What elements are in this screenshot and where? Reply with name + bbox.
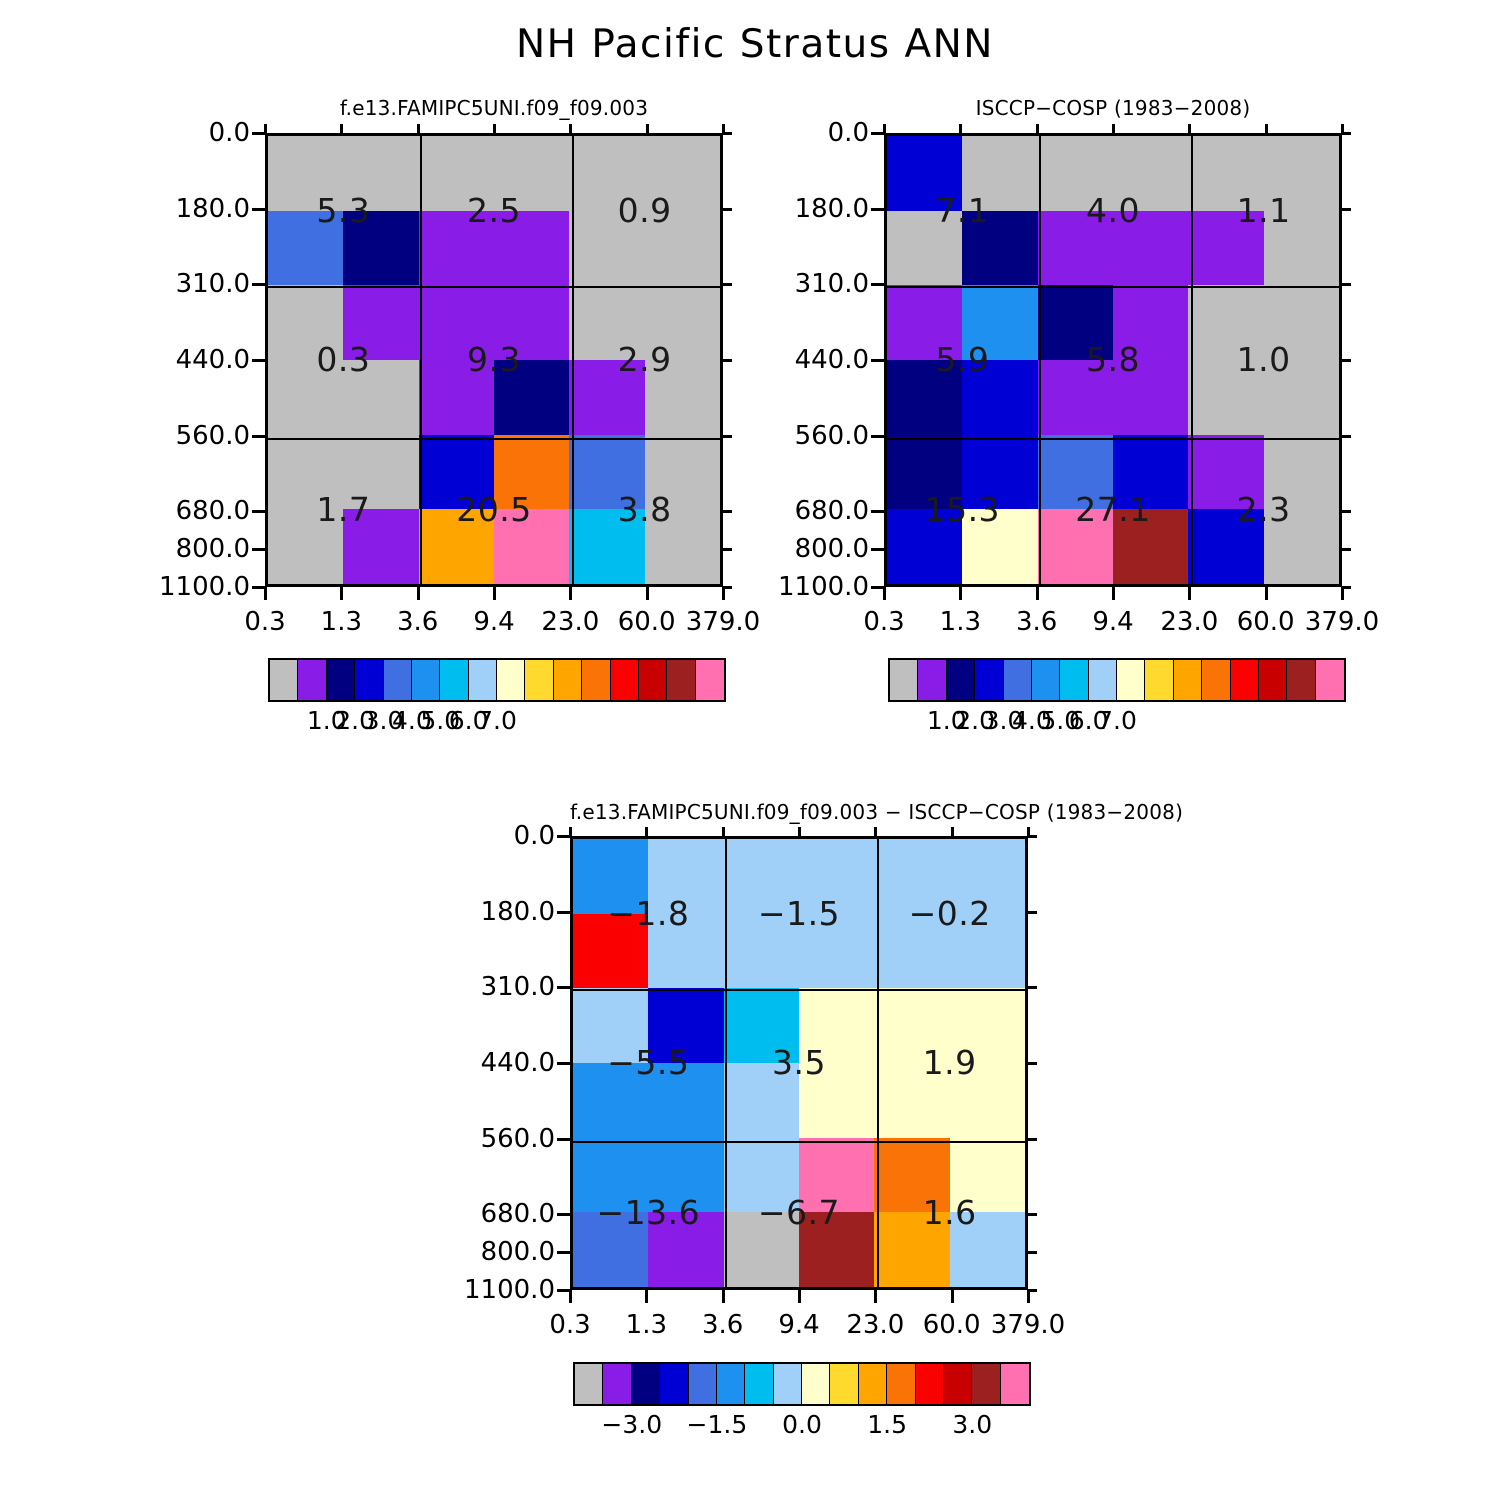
group-separator-horizontal <box>573 1141 1025 1143</box>
y-axis-label: 310.0 <box>110 269 250 299</box>
colorbar-swatch <box>603 1364 631 1404</box>
colorbar-swatch <box>916 1364 944 1404</box>
colorbar-swatch <box>890 660 918 700</box>
colorbar-swatch <box>1060 660 1088 700</box>
y-axis-label: 0.0 <box>110 118 250 148</box>
y-axis-label: 800.0 <box>415 1237 555 1267</box>
heatmap-cell <box>799 1063 874 1138</box>
x-axis-tick-top <box>1036 124 1039 133</box>
colorbar-swatch <box>632 1364 660 1404</box>
heatmap-cell <box>887 360 962 435</box>
y-axis-label: 1100.0 <box>110 572 250 602</box>
heatmap-cell <box>887 509 962 584</box>
heatmap-cell <box>1264 435 1339 510</box>
y-axis-tick <box>252 548 265 551</box>
y-axis-tick <box>557 1251 570 1254</box>
group-separator-horizontal <box>887 286 1339 288</box>
x-axis-label: 0.3 <box>863 607 904 637</box>
x-axis-tick-top <box>722 827 725 836</box>
x-axis-label: 379.0 <box>1305 607 1379 637</box>
plot-area-model: 5.32.50.90.39.32.91.720.53.8 <box>265 133 723 587</box>
group-separator-vertical <box>1039 136 1041 584</box>
x-axis-tick-top <box>722 124 725 133</box>
x-axis-tick <box>959 587 962 600</box>
heatmap-cell <box>950 988 1025 1063</box>
y-axis-tick <box>252 283 265 286</box>
heatmap-cell <box>1038 360 1113 435</box>
x-axis-tick <box>569 1290 572 1303</box>
y-axis-tick <box>557 986 570 989</box>
heatmap-cell <box>1113 285 1188 360</box>
colorbar-swatch <box>689 1364 717 1404</box>
y-axis-tick <box>252 510 265 513</box>
heatmap-cell <box>573 1138 648 1213</box>
y-axis-tick <box>557 1138 570 1141</box>
heatmap-cell <box>874 839 949 914</box>
x-axis-label: 9.4 <box>778 1310 819 1340</box>
y-axis-tick-right <box>1342 548 1351 551</box>
heatmap-cell <box>887 285 962 360</box>
cell-grid <box>268 136 720 584</box>
heatmap-cell <box>1188 360 1263 435</box>
colorbar-swatch <box>972 1364 1000 1404</box>
y-axis-tick <box>871 548 884 551</box>
heatmap-cell <box>645 285 720 360</box>
colorbar-swatch <box>802 1364 830 1404</box>
x-axis-label: 379.0 <box>686 607 760 637</box>
group-separator-vertical <box>877 839 879 1287</box>
x-axis-label: 1.3 <box>321 607 362 637</box>
colorbar-swatch <box>1117 660 1145 700</box>
x-axis-tick <box>1112 587 1115 600</box>
colorbar-swatch <box>327 660 355 700</box>
x-axis-label: 3.6 <box>1016 607 1057 637</box>
y-axis-tick <box>557 911 570 914</box>
colorbar-swatch <box>830 1364 858 1404</box>
heatmap-cell <box>887 435 962 510</box>
colorbar-swatch <box>947 660 975 700</box>
x-axis-tick <box>569 587 572 600</box>
y-axis-tick-right <box>1028 1251 1037 1254</box>
heatmap-cell <box>419 509 494 584</box>
colorbar-tick-label: −3.0 <box>601 1410 662 1439</box>
heatmap-cell <box>343 435 418 510</box>
heatmap-cell <box>343 285 418 360</box>
heatmap-cell <box>724 839 799 914</box>
heatmap-cell <box>648 914 723 989</box>
x-axis-tick-top <box>646 124 649 133</box>
heatmap-cell <box>1264 509 1339 584</box>
figure-canvas: NH Pacific Stratus ANN f.e13.FAMIPC5UNI.… <box>0 0 1510 1510</box>
heatmap-cell <box>569 211 644 286</box>
heatmap-cell <box>494 435 569 510</box>
plot-area-observations: 7.14.01.15.95.81.015.327.12.3 <box>884 133 1342 587</box>
x-axis-tick-top <box>493 124 496 133</box>
heatmap-cell <box>1264 136 1339 211</box>
colorbar-swatch <box>384 660 412 700</box>
heatmap-cell <box>573 1063 648 1138</box>
y-axis-tick <box>871 510 884 513</box>
y-axis-tick-right <box>1028 911 1037 914</box>
group-separator-horizontal <box>268 286 720 288</box>
heatmap-cell <box>1264 285 1339 360</box>
y-axis-label: 310.0 <box>415 972 555 1002</box>
colorbar-swatch <box>717 1364 745 1404</box>
colorbar-swatch <box>887 1364 915 1404</box>
x-axis-label: 60.0 <box>923 1310 981 1340</box>
colorbar-tick-label: 7.0 <box>477 706 517 735</box>
x-axis-tick-top <box>1341 124 1344 133</box>
heatmap-cell <box>268 211 343 286</box>
colorbar-swatch <box>1001 1364 1029 1404</box>
colorbar-tick-label: 1.5 <box>867 1410 907 1439</box>
y-axis-tick-right <box>1028 1138 1037 1141</box>
x-axis-tick <box>1265 587 1268 600</box>
y-axis-label: 180.0 <box>729 194 869 224</box>
colorbar-swatch <box>469 660 497 700</box>
heatmap-cell <box>268 360 343 435</box>
heatmap-cell <box>569 360 644 435</box>
heatmap-cell <box>874 1063 949 1138</box>
x-axis-tick-top <box>798 827 801 836</box>
colorbar-swatch <box>1287 660 1315 700</box>
group-separator-horizontal <box>268 438 720 440</box>
heatmap-cell <box>950 1212 1025 1287</box>
x-axis-tick-top <box>569 124 572 133</box>
x-axis-tick-top <box>1112 124 1115 133</box>
heatmap-cell <box>1264 360 1339 435</box>
y-axis-label: 560.0 <box>729 421 869 451</box>
x-axis-tick-top <box>883 124 886 133</box>
group-separator-vertical <box>1191 136 1193 584</box>
heatmap-cell <box>1188 211 1263 286</box>
heatmap-cell <box>1188 435 1263 510</box>
heatmap-cell <box>268 136 343 211</box>
plot-area-difference: −1.8−1.5−0.2−5.53.51.9−13.6−6.71.6 <box>570 836 1028 1290</box>
heatmap-cell <box>799 839 874 914</box>
heatmap-cell <box>343 211 418 286</box>
heatmap-cell <box>573 914 648 989</box>
x-axis-tick <box>417 587 420 600</box>
colorbar-swatch <box>1032 660 1060 700</box>
colorbar-swatch <box>1004 660 1032 700</box>
y-axis-tick <box>871 435 884 438</box>
heatmap-cell <box>494 360 569 435</box>
colorbar-swatch <box>525 660 553 700</box>
heatmap-cell <box>569 136 644 211</box>
heatmap-cell <box>268 435 343 510</box>
colorbar-model: 1.02.03.04.05.06.07.0 <box>268 658 726 738</box>
x-axis-tick-top <box>417 124 420 133</box>
y-axis-label: 560.0 <box>110 421 250 451</box>
x-axis-tick <box>1341 587 1344 600</box>
colorbar-swatch <box>918 660 946 700</box>
y-axis-tick-right <box>1028 1213 1037 1216</box>
heatmap-cell <box>1113 211 1188 286</box>
heatmap-cell <box>648 988 723 1063</box>
colorbar-swatch <box>1174 660 1202 700</box>
x-axis-tick <box>645 1290 648 1303</box>
heatmap-cell <box>799 988 874 1063</box>
heatmap-cell <box>419 435 494 510</box>
heatmap-cell <box>648 1138 723 1213</box>
y-axis-label: 180.0 <box>110 194 250 224</box>
colorbar-swatch <box>745 1364 773 1404</box>
colorbar-tick-label: −1.5 <box>687 1410 748 1439</box>
heatmap-cell <box>950 839 1025 914</box>
colorbar-swatch <box>412 660 440 700</box>
heatmap-cell <box>799 1212 874 1287</box>
x-axis-tick-top <box>1188 124 1191 133</box>
heatmap-cell <box>950 1138 1025 1213</box>
heatmap-cell <box>645 435 720 510</box>
colorbar-swatch <box>639 660 667 700</box>
heatmap-cell <box>1038 285 1113 360</box>
colorbar-swatch <box>1259 660 1287 700</box>
colorbar-tick-label: 3.0 <box>952 1410 992 1439</box>
y-axis-tick-right <box>1342 359 1351 362</box>
heatmap-cell <box>724 914 799 989</box>
x-axis-tick-top <box>340 124 343 133</box>
y-axis-tick <box>557 1062 570 1065</box>
heatmap-cell <box>874 1138 949 1213</box>
heatmap-cell <box>1188 136 1263 211</box>
heatmap-cell <box>494 509 569 584</box>
colorbar-swatch <box>611 660 639 700</box>
x-axis-label: 60.0 <box>618 607 676 637</box>
heatmap-cell <box>962 211 1037 286</box>
y-axis-label: 440.0 <box>110 345 250 375</box>
panel-title-model: f.e13.FAMIPC5UNI.f09_f09.003 <box>265 96 723 120</box>
x-axis-tick <box>493 587 496 600</box>
heatmap-cell <box>569 435 644 510</box>
heatmap-cell <box>645 509 720 584</box>
y-axis-label: 1100.0 <box>729 572 869 602</box>
heatmap-cell <box>1038 435 1113 510</box>
x-axis-tick-top <box>1027 827 1030 836</box>
heatmap-cell <box>573 988 648 1063</box>
y-axis-tick <box>871 208 884 211</box>
y-axis-tick <box>871 283 884 286</box>
colorbar-swatch <box>696 660 724 700</box>
colorbar-swatch <box>554 660 582 700</box>
heatmap-cell <box>1113 509 1188 584</box>
heatmap-cell <box>1188 285 1263 360</box>
heatmap-cell <box>494 211 569 286</box>
x-axis-tick <box>722 587 725 600</box>
y-axis-label: 0.0 <box>415 821 555 851</box>
heatmap-cell <box>962 136 1037 211</box>
y-axis-tick <box>252 359 265 362</box>
y-axis-label: 560.0 <box>415 1124 555 1154</box>
panel-title-observations: ISCCP−COSP (1983−2008) <box>884 96 1342 120</box>
y-axis-tick <box>871 359 884 362</box>
x-axis-tick-top <box>1265 124 1268 133</box>
x-axis-tick <box>264 587 267 600</box>
x-axis-tick <box>722 1290 725 1303</box>
heatmap-cell <box>950 914 1025 989</box>
panel-title-difference: f.e13.FAMIPC5UNI.f09_f09.003 − ISCCP−COS… <box>570 800 1028 824</box>
colorbar-difference: −3.0−1.50.01.53.0 <box>573 1362 1031 1442</box>
x-axis-label: 60.0 <box>1237 607 1295 637</box>
heatmap-cell <box>419 360 494 435</box>
heatmap-cell <box>724 1063 799 1138</box>
colorbar-swatch <box>355 660 383 700</box>
colorbar-swatch <box>774 1364 802 1404</box>
x-axis-tick-top <box>959 124 962 133</box>
colorbar-swatch <box>1231 660 1259 700</box>
heatmap-cell <box>950 1063 1025 1138</box>
x-axis-tick <box>1027 1290 1030 1303</box>
colorbar-swatch <box>298 660 326 700</box>
colorbar-tick-label: 0.0 <box>782 1410 822 1439</box>
heatmap-cell <box>645 136 720 211</box>
y-axis-label: 680.0 <box>415 1199 555 1229</box>
y-axis-label: 310.0 <box>729 269 869 299</box>
heatmap-cell <box>343 136 418 211</box>
heatmap-cell <box>648 1212 723 1287</box>
group-separator-horizontal <box>887 438 1339 440</box>
heatmap-cell <box>645 211 720 286</box>
x-axis-label: 379.0 <box>991 1310 1065 1340</box>
heatmap-cell <box>1188 509 1263 584</box>
colorbar-observations: 1.02.03.04.05.06.07.0 <box>888 658 1346 738</box>
y-axis-label: 440.0 <box>415 1048 555 1078</box>
heatmap-cell <box>494 285 569 360</box>
x-axis-tick-top <box>874 827 877 836</box>
colorbar-swatch <box>270 660 298 700</box>
heatmap-cell <box>268 509 343 584</box>
heatmap-cell <box>1038 509 1113 584</box>
colorbar-swatch <box>1145 660 1173 700</box>
heatmap-cell <box>1113 136 1188 211</box>
y-axis-tick-right <box>1342 283 1351 286</box>
colorbar-swatch <box>440 660 468 700</box>
heatmap-cell <box>962 509 1037 584</box>
group-separator-vertical <box>725 839 727 1287</box>
heatmap-cell <box>648 1063 723 1138</box>
colorbar-swatch <box>660 1364 688 1404</box>
x-axis-label: 1.3 <box>626 1310 667 1340</box>
y-axis-tick-right <box>1028 1062 1037 1065</box>
heatmap-cell <box>962 360 1037 435</box>
y-axis-label: 440.0 <box>729 345 869 375</box>
x-axis-tick <box>1036 587 1039 600</box>
x-axis-label: 9.4 <box>1092 607 1133 637</box>
colorbar-swatch <box>667 660 695 700</box>
heatmap-cell <box>874 1212 949 1287</box>
x-axis-tick <box>883 587 886 600</box>
colorbar-swatch <box>582 660 610 700</box>
heatmap-cell <box>343 360 418 435</box>
heatmap-cell <box>1264 211 1339 286</box>
x-axis-tick-top <box>569 827 572 836</box>
heatmap-cell <box>724 1138 799 1213</box>
heatmap-cell <box>494 136 569 211</box>
heatmap-cell <box>419 136 494 211</box>
y-axis-label: 680.0 <box>729 496 869 526</box>
group-separator-vertical <box>572 136 574 584</box>
colorbar-strip <box>573 1362 1031 1406</box>
colorbar-swatch <box>575 1364 603 1404</box>
y-axis-tick <box>252 435 265 438</box>
x-axis-label: 0.3 <box>549 1310 590 1340</box>
heatmap-cell <box>1038 136 1113 211</box>
y-axis-tick-right <box>1028 986 1037 989</box>
y-axis-label: 800.0 <box>110 534 250 564</box>
colorbar-swatch <box>497 660 525 700</box>
y-axis-tick-right <box>1342 435 1351 438</box>
colorbar-swatch <box>859 1364 887 1404</box>
heatmap-cell <box>1113 435 1188 510</box>
y-axis-tick-right <box>1342 510 1351 513</box>
colorbar-swatch <box>1202 660 1230 700</box>
colorbar-swatch <box>975 660 1003 700</box>
y-axis-label: 1100.0 <box>415 1275 555 1305</box>
heatmap-cell <box>343 509 418 584</box>
y-axis-tick <box>557 1213 570 1216</box>
heatmap-cell <box>799 914 874 989</box>
x-axis-label: 3.6 <box>397 607 438 637</box>
heatmap-cell <box>887 136 962 211</box>
x-axis-label: 9.4 <box>473 607 514 637</box>
group-separator-vertical <box>420 136 422 584</box>
y-axis-tick-right <box>1342 208 1351 211</box>
x-axis-tick <box>798 1290 801 1303</box>
y-axis-label: 680.0 <box>110 496 250 526</box>
heatmap-cell <box>962 285 1037 360</box>
heatmap-cell <box>724 988 799 1063</box>
heatmap-cell <box>1038 211 1113 286</box>
y-axis-tick <box>252 208 265 211</box>
y-axis-label: 800.0 <box>729 534 869 564</box>
colorbar-swatch <box>1316 660 1344 700</box>
x-axis-tick <box>951 1290 954 1303</box>
colorbar-tick-label: 7.0 <box>1097 706 1137 735</box>
heatmap-cell <box>887 211 962 286</box>
heatmap-cell <box>799 1138 874 1213</box>
x-axis-tick-top <box>951 827 954 836</box>
colorbar-swatch <box>1089 660 1117 700</box>
heatmap-cell <box>645 360 720 435</box>
colorbar-strip <box>268 658 726 702</box>
x-axis-tick <box>1188 587 1191 600</box>
cell-grid <box>573 839 1025 1287</box>
y-axis-label: 0.0 <box>729 118 869 148</box>
x-axis-label: 23.0 <box>541 607 599 637</box>
heatmap-cell <box>962 435 1037 510</box>
heatmap-cell <box>874 914 949 989</box>
heatmap-cell <box>573 839 648 914</box>
heatmap-cell <box>569 509 644 584</box>
x-axis-tick <box>874 1290 877 1303</box>
x-axis-tick <box>646 587 649 600</box>
x-axis-label: 1.3 <box>940 607 981 637</box>
x-axis-label: 23.0 <box>1160 607 1218 637</box>
heatmap-cell <box>573 1212 648 1287</box>
heatmap-cell <box>724 1212 799 1287</box>
heatmap-cell <box>1113 360 1188 435</box>
heatmap-cell <box>874 988 949 1063</box>
heatmap-cell <box>268 285 343 360</box>
x-axis-tick-top <box>264 124 267 133</box>
cell-grid <box>887 136 1339 584</box>
heatmap-cell <box>569 285 644 360</box>
heatmap-cell <box>419 211 494 286</box>
y-axis-label: 180.0 <box>415 897 555 927</box>
x-axis-label: 0.3 <box>244 607 285 637</box>
group-separator-horizontal <box>573 989 1025 991</box>
